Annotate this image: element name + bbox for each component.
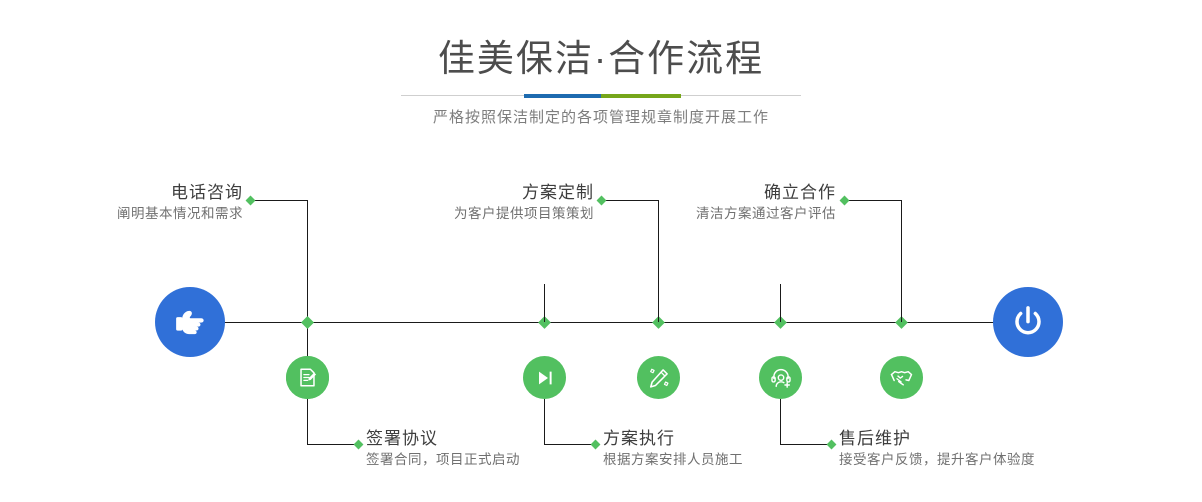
stem-1-upper bbox=[307, 200, 308, 322]
bullet-1 bbox=[246, 196, 256, 206]
step-title-1: 电话咨询 bbox=[0, 182, 243, 204]
page-subtitle: 严格按照保洁制定的各项管理规章制度开展工作 bbox=[0, 106, 1202, 127]
step-desc-6: 接受客户反馈，提升客户体验度 bbox=[839, 450, 1035, 470]
document-sign-icon bbox=[296, 366, 319, 389]
step-icon-5[interactable] bbox=[880, 356, 923, 399]
pencil-edit-icon bbox=[647, 366, 671, 390]
customer-support-icon bbox=[769, 366, 793, 390]
step-label-3: 方案定制 为客户提供项目策策划 bbox=[350, 182, 594, 224]
play-execute-icon bbox=[533, 366, 557, 390]
bullet-2 bbox=[354, 440, 364, 450]
step-icon-6[interactable] bbox=[759, 356, 802, 399]
stem-5-upper bbox=[901, 200, 902, 322]
step-icon-2[interactable] bbox=[286, 356, 329, 399]
step-label-2: 签署协议 签署合同，项目正式启动 bbox=[366, 428, 520, 470]
process-flow-infographic: 佳美保洁·合作流程 严格按照保洁制定的各项管理规章制度开展工作 bbox=[0, 0, 1202, 502]
leader-5 bbox=[845, 200, 901, 201]
step-label-5: 确立合作 清洁方案通过客户评估 bbox=[592, 182, 836, 224]
step-desc-4: 根据方案安排人员施工 bbox=[603, 450, 743, 470]
handshake-icon bbox=[889, 365, 914, 390]
timeline-area: 电话咨询 阐明基本情况和需求 bbox=[0, 150, 1202, 502]
step-title-6: 售后维护 bbox=[839, 428, 1035, 450]
pointing-hand-icon bbox=[172, 304, 208, 340]
bullet-5 bbox=[840, 196, 850, 206]
title-divider bbox=[401, 94, 801, 98]
timeline-marker-2 bbox=[301, 316, 314, 329]
step-label-1: 电话咨询 阐明基本情况和需求 bbox=[0, 182, 243, 224]
leader-2 bbox=[307, 444, 359, 445]
step-desc-3: 为客户提供项目策策划 bbox=[350, 204, 594, 224]
bullet-6 bbox=[827, 440, 837, 450]
header-section: 佳美保洁·合作流程 严格按照保洁制定的各项管理规章制度开展工作 bbox=[0, 0, 1202, 150]
flow-end-node[interactable] bbox=[993, 287, 1063, 357]
stem-4-lower bbox=[544, 399, 545, 444]
divider-blue-segment bbox=[524, 94, 601, 98]
step-desc-1: 阐明基本情况和需求 bbox=[0, 204, 243, 224]
step-desc-2: 签署合同，项目正式启动 bbox=[366, 450, 520, 470]
step-label-6: 售后维护 接受客户反馈，提升客户体验度 bbox=[839, 428, 1035, 470]
stem-6-upper bbox=[780, 284, 781, 322]
divider-green-segment bbox=[601, 94, 681, 98]
stem-4-upper bbox=[544, 284, 545, 322]
power-icon bbox=[1008, 302, 1048, 342]
leader-1 bbox=[251, 200, 307, 201]
step-icon-3[interactable] bbox=[637, 356, 680, 399]
leader-6 bbox=[780, 444, 832, 445]
step-title-4: 方案执行 bbox=[603, 428, 743, 450]
step-title-2: 签署协议 bbox=[366, 428, 520, 450]
flow-start-node[interactable] bbox=[155, 287, 225, 357]
page-title: 佳美保洁·合作流程 bbox=[0, 36, 1202, 81]
stem-6-lower bbox=[780, 399, 781, 444]
step-icon-4[interactable] bbox=[523, 356, 566, 399]
step-title-3: 方案定制 bbox=[350, 182, 594, 204]
bullet-4 bbox=[591, 440, 601, 450]
step-desc-5: 清洁方案通过客户评估 bbox=[592, 204, 836, 224]
step-label-4: 方案执行 根据方案安排人员施工 bbox=[603, 428, 743, 470]
leader-4 bbox=[544, 444, 596, 445]
step-title-5: 确立合作 bbox=[592, 182, 836, 204]
stem-2-lower bbox=[307, 399, 308, 444]
